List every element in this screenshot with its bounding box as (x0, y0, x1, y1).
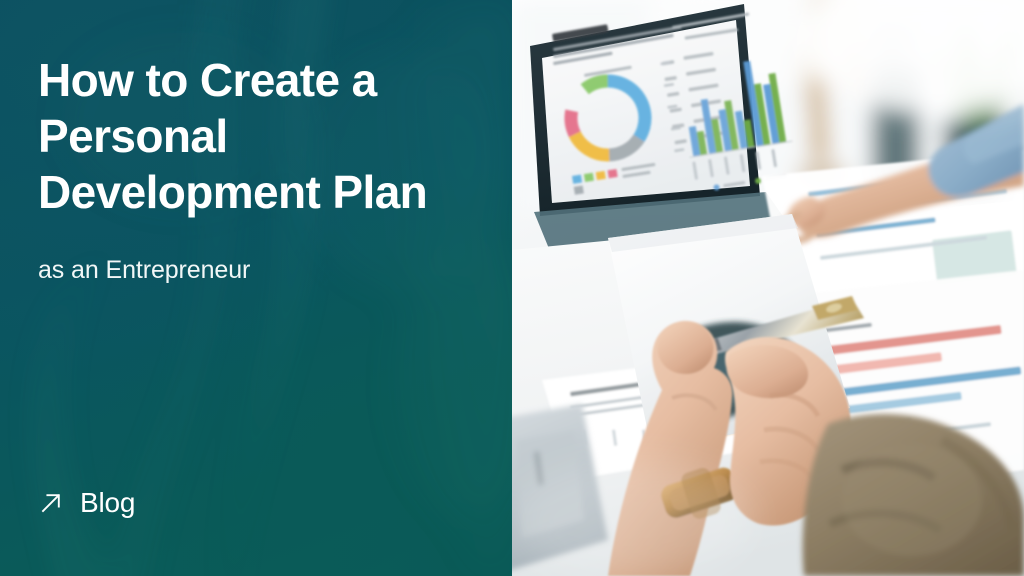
blog-link-label: Blog (80, 488, 135, 518)
right-photo-panel (512, 0, 1024, 576)
arrow-up-right-icon (38, 490, 64, 516)
blog-banner: How to Create a Personal Development Pla… (0, 0, 1024, 576)
headline-line-2: Personal (38, 108, 508, 164)
blog-link[interactable]: Blog (38, 488, 135, 518)
panel-content: How to Create a Personal Development Pla… (0, 0, 512, 576)
page-subtitle: as an Entrepreneur (38, 254, 250, 286)
page-title: How to Create a Personal Development Pla… (38, 52, 508, 220)
office-desk-photo (512, 0, 1024, 576)
headline-line-1: How to Create a (38, 52, 508, 108)
headline-line-3: Development Plan (38, 164, 508, 220)
left-text-panel: How to Create a Personal Development Pla… (0, 0, 512, 576)
